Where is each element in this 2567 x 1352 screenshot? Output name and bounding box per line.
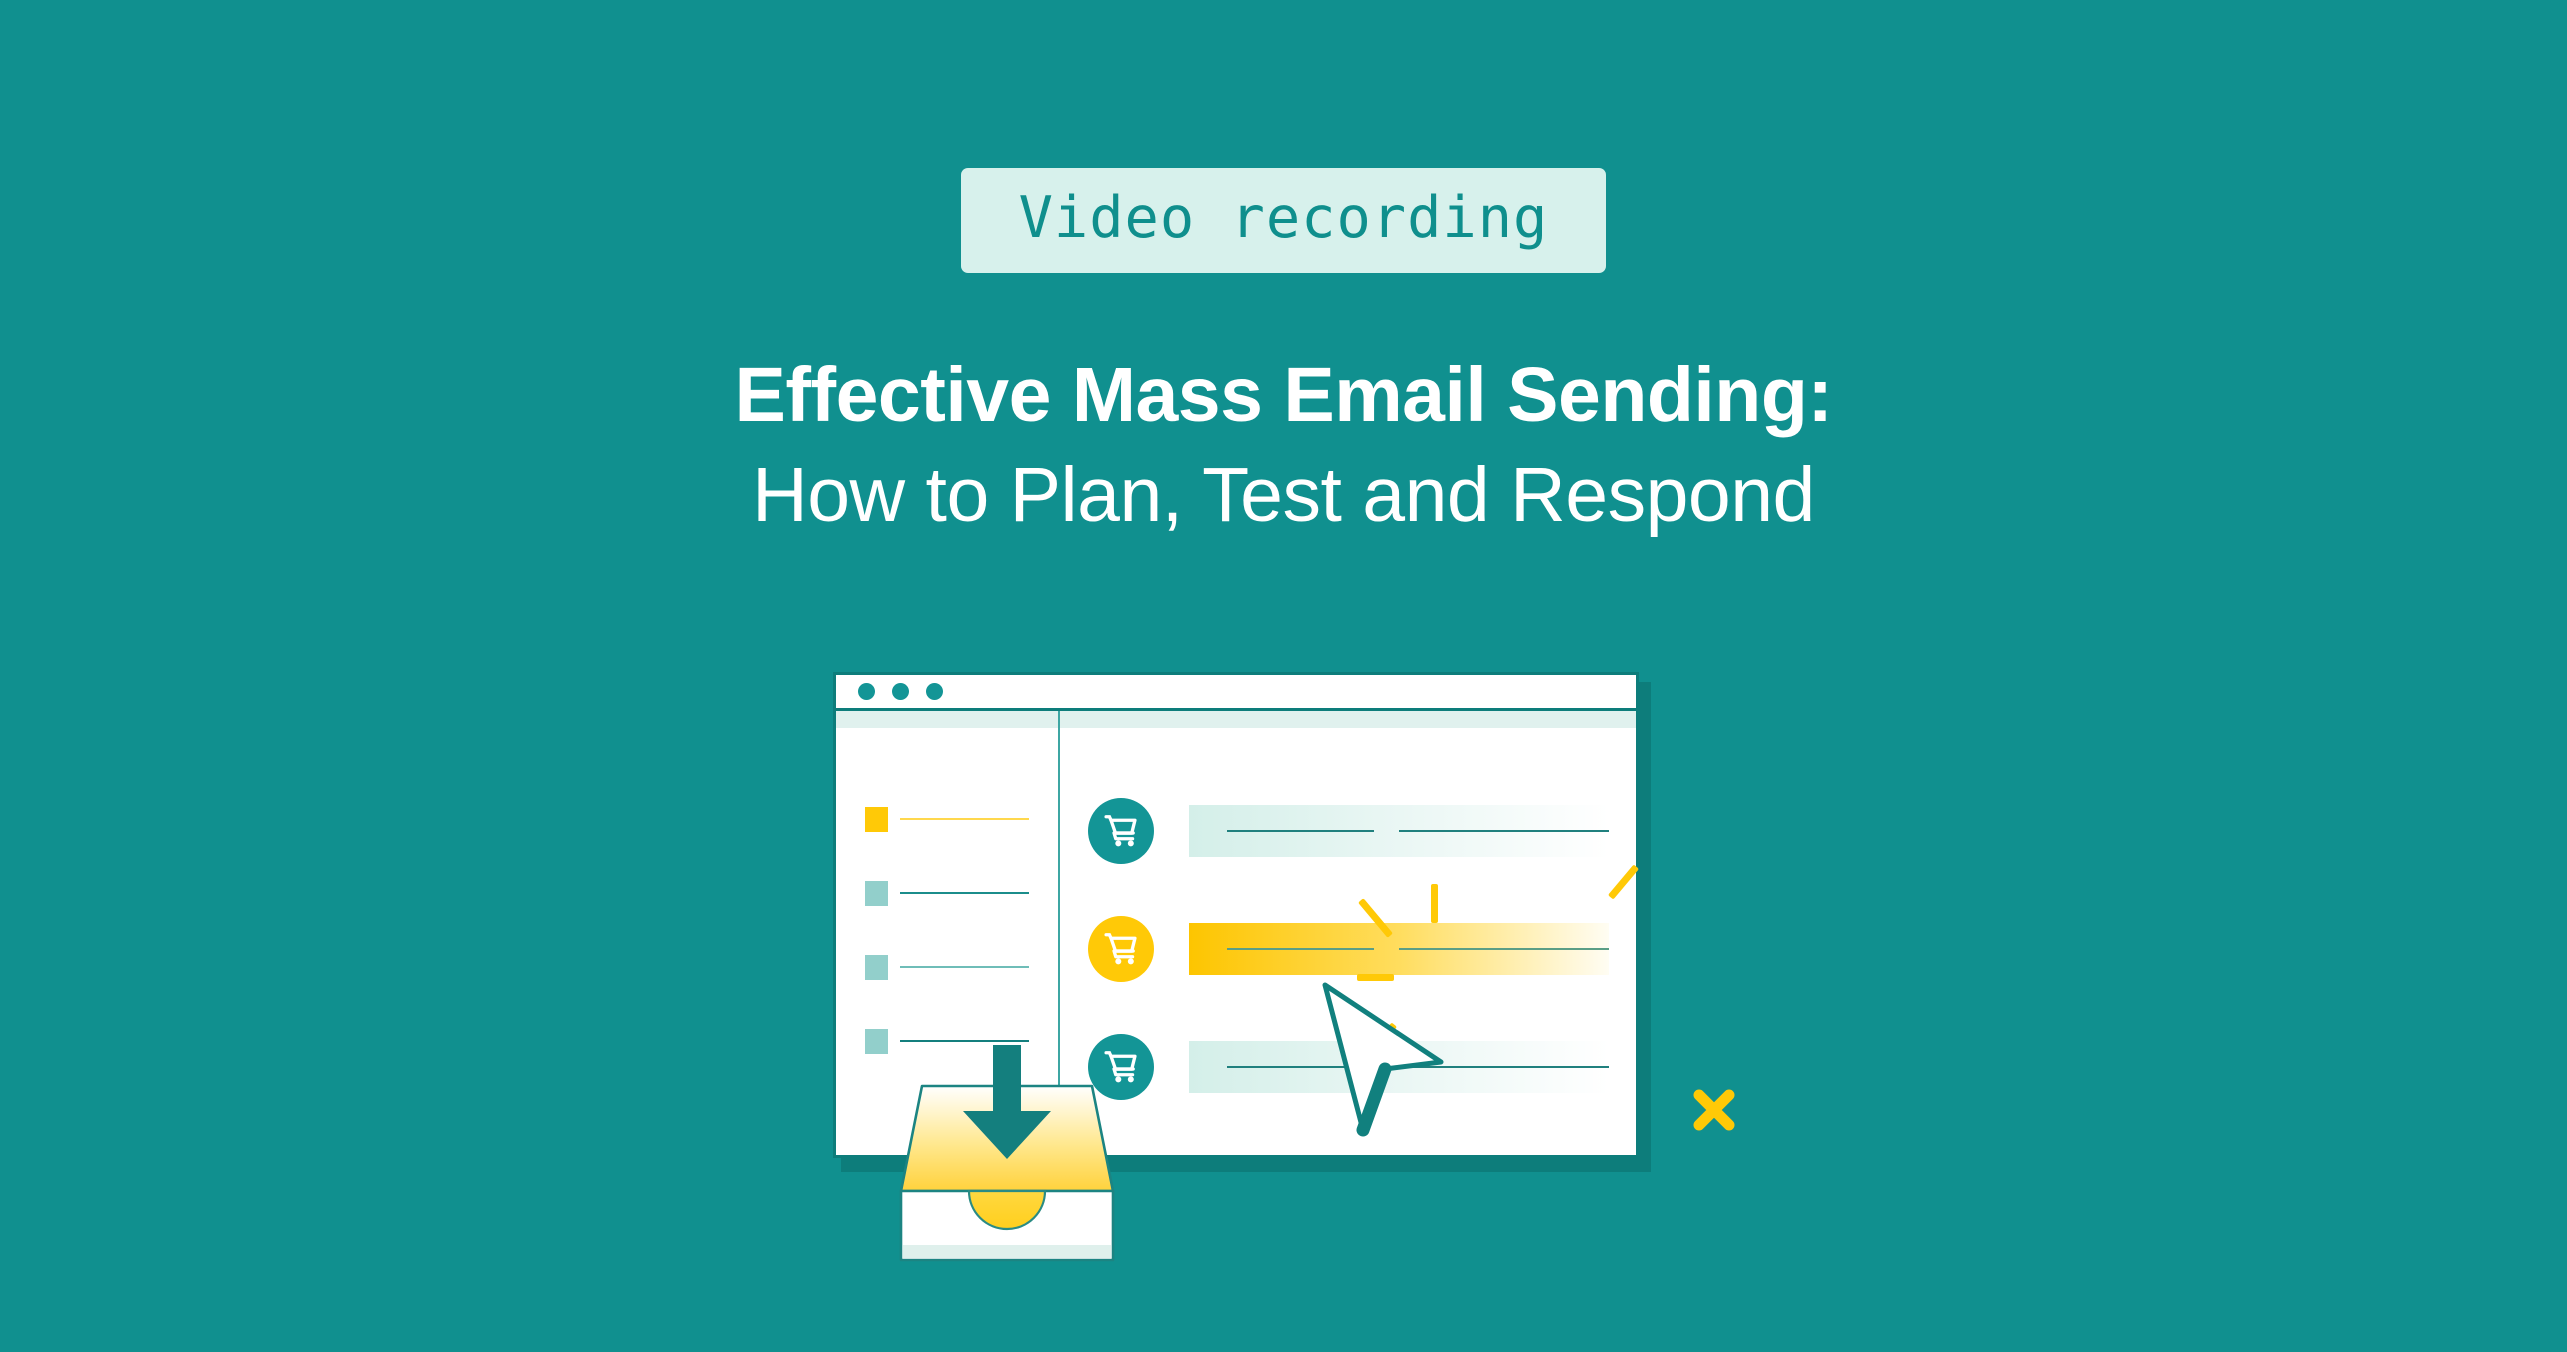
shopping-cart-icon <box>1088 798 1154 864</box>
campaign-row-2[interactable] <box>1060 904 1636 994</box>
sidebar-line-4 <box>900 1040 1029 1042</box>
sidebar-line-2 <box>900 892 1029 894</box>
sidebar-item-list <box>836 728 1058 1060</box>
campaign-row-3[interactable] <box>1060 1022 1636 1112</box>
sidebar-item-2[interactable] <box>836 874 1058 912</box>
inbox-download-tray <box>881 1045 1133 1287</box>
window-dot-3[interactable] <box>926 683 943 700</box>
sidebar-header-strip <box>836 711 1058 728</box>
window-titlebar <box>836 675 1636 711</box>
sidebar-line-3 <box>900 966 1029 968</box>
sparkle-vertical <box>1431 884 1438 923</box>
campaign-row-1[interactable] <box>1060 786 1636 876</box>
video-recording-badge: Video recording <box>961 168 1607 273</box>
bar-line-long-3 <box>1399 1066 1609 1068</box>
bar-line-short-3 <box>1227 1066 1374 1068</box>
sparkle-horizontal <box>1357 974 1394 981</box>
bar-line-short-2 <box>1227 948 1374 950</box>
content-header-strip <box>1060 711 1636 728</box>
title-line-1: Effective Mass Email Sending: <box>0 352 2567 438</box>
bar-line-short-1 <box>1227 830 1374 832</box>
campaign-bar-3 <box>1189 1041 1609 1093</box>
campaign-bar-1 <box>1189 805 1609 857</box>
campaign-bar-lines-3 <box>1227 1066 1609 1068</box>
bar-line-long-2 <box>1399 948 1609 950</box>
campaign-bar-2 <box>1189 923 1609 975</box>
window-dot-2[interactable] <box>892 683 909 700</box>
sidebar-item-3[interactable] <box>836 948 1058 986</box>
page-title: Effective Mass Email Sending: How to Pla… <box>0 352 2567 538</box>
bar-line-long-1 <box>1399 830 1609 832</box>
sidebar-line-1 <box>900 818 1029 820</box>
window-dot-1[interactable] <box>858 683 875 700</box>
shopping-cart-icon <box>1088 916 1154 982</box>
campaign-row-list <box>1060 728 1636 1112</box>
badge-container: Video recording <box>0 168 2567 273</box>
campaign-bar-lines-2 <box>1227 948 1609 950</box>
campaign-bar-lines-1 <box>1227 830 1609 832</box>
poster-canvas: Video recording Effective Mass Email Sen… <box>0 0 2567 1352</box>
content-panel <box>1060 711 1636 1155</box>
sidebar-item-1[interactable] <box>836 800 1058 838</box>
title-line-2: How to Plan, Test and Respond <box>0 452 2567 538</box>
sidebar-swatch-1 <box>865 807 888 832</box>
close-x-decoration <box>1691 1087 1737 1133</box>
sidebar-swatch-3 <box>865 955 888 980</box>
sidebar-swatch-2 <box>865 881 888 906</box>
hero-illustration <box>833 672 1733 1312</box>
